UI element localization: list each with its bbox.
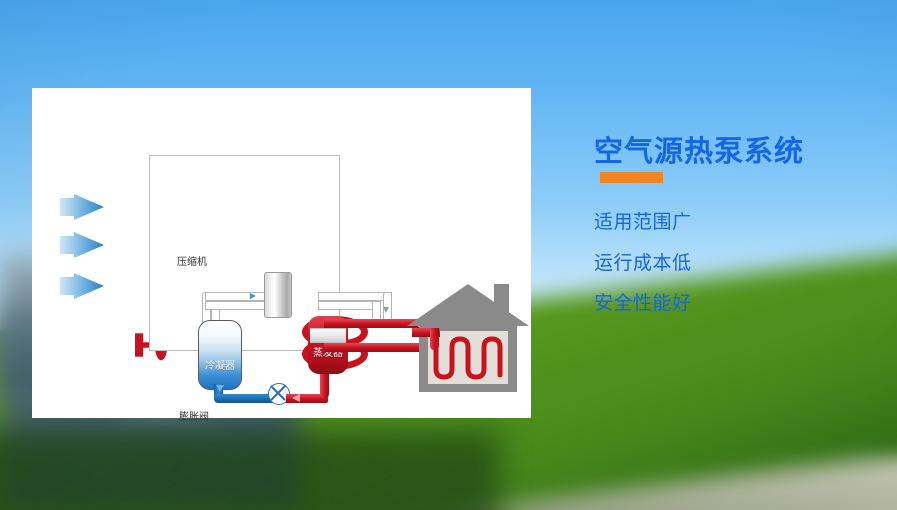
air-arrow-icon-2 [60,232,108,258]
flow-arrow-icon-hot-return [292,394,300,402]
diagram-panel: 压缩机 膨胀阀 冷凝器 蒸发器 [32,88,531,418]
accent-rule [600,172,663,183]
pipe-gas-suction [205,292,271,301]
house-chimney [494,284,509,316]
air-arrow-icon-1 [60,194,108,220]
page-title: 空气源热泵系统 [594,128,804,170]
feature-bullet-2: 运行成本低 [594,248,692,275]
condenser-unit: 冷凝器 [198,320,242,390]
label-expansion-valve: 膨胀阀 [179,413,209,423]
compressor-unit [264,272,292,318]
slide-canvas: 压缩机 膨胀阀 冷凝器 蒸发器 [0,0,897,510]
flow-arrow-icon-liquid [216,385,224,392]
floor-heating-coil-icon [432,335,504,381]
evaporator-sight-band [310,328,346,343]
feature-bullet-1: 适用范围广 [594,207,692,234]
pipe-gas-suction-b [205,301,271,310]
pipe-gas-discharge [318,292,392,301]
feature-bullet-3: 安全性能好 [594,288,692,315]
condenser-label: 冷凝器 [199,357,241,372]
flow-arrow-icon-discharge [383,307,389,313]
pipe-gas-discharge-b [318,301,380,310]
flow-arrow-icon-suction [250,293,256,299]
air-arrow-icon-3 [60,273,108,299]
label-compressor: 压缩机 [177,258,207,268]
